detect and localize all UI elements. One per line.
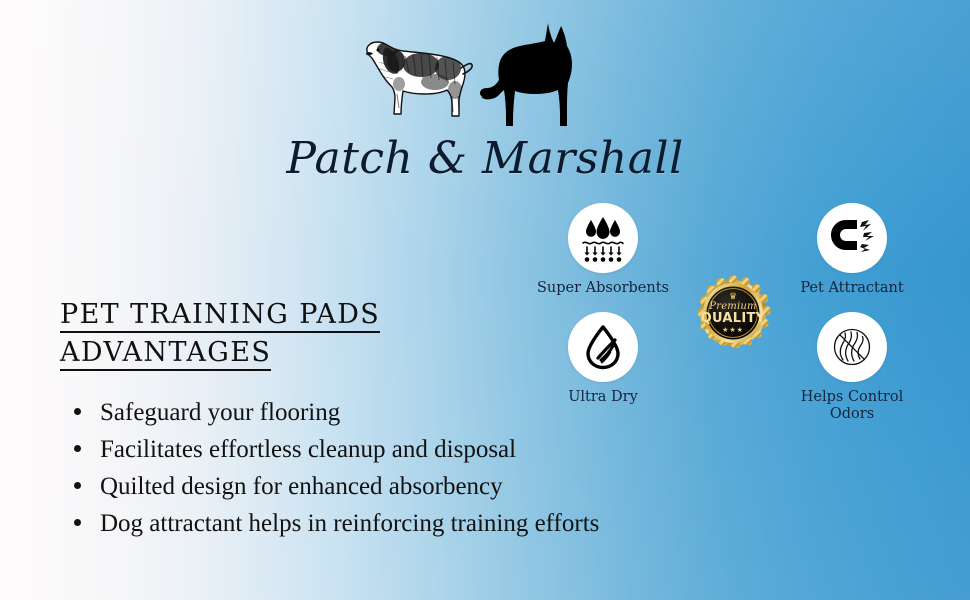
advantages-list: Safeguard your flooring Facilitates effo… bbox=[66, 396, 766, 544]
list-item-label: Safeguard your flooring bbox=[100, 399, 340, 426]
headline-line-1: PET TRAINING PADS bbox=[60, 300, 380, 333]
magnet-icon bbox=[827, 215, 877, 261]
feature-label: Ultra Dry bbox=[528, 389, 678, 406]
headline-line-2: ADVANTAGES bbox=[60, 338, 271, 371]
feature-pet-attractant: Pet Attractant bbox=[777, 203, 927, 297]
feature-icon-circle bbox=[568, 312, 638, 382]
spaniel-dog-illustration bbox=[355, 32, 473, 124]
premium-quality-seal: ♛ Premium QUALITY ★★★ bbox=[694, 274, 772, 352]
brand-logo: Patch & Marshall bbox=[0, 18, 970, 181]
seal-badge-shape bbox=[694, 274, 772, 352]
list-item-label: Quilted design for enhanced absorbency bbox=[100, 473, 503, 500]
bullet-icon bbox=[74, 519, 81, 526]
list-item: Facilitates effortless cleanup and dispo… bbox=[66, 433, 766, 467]
water-droplets-absorbing-icon bbox=[578, 213, 628, 263]
list-item: Dog attractant helps in reinforcing trai… bbox=[66, 507, 766, 541]
feature-icon-circle bbox=[817, 312, 887, 382]
dry-droplet-feather-icon bbox=[580, 324, 626, 370]
bullet-icon bbox=[74, 482, 81, 489]
feature-label: Helps Control Odors bbox=[777, 389, 927, 422]
brand-name: Patch & Marshall bbox=[0, 137, 970, 181]
feature-icon-circle bbox=[817, 203, 887, 273]
list-item: Quilted design for enhanced absorbency bbox=[66, 470, 766, 504]
no-odor-icon bbox=[827, 322, 877, 372]
feature-helps-control-odors: Helps Control Odors bbox=[777, 312, 927, 422]
feature-label: Super Absorbents bbox=[528, 280, 678, 297]
list-item-label: Facilitates effortless cleanup and dispo… bbox=[100, 436, 516, 463]
feature-label: Pet Attractant bbox=[777, 280, 927, 297]
list-item-label: Dog attractant helps in reinforcing trai… bbox=[100, 510, 599, 537]
product-feature-banner: Patch & Marshall PET TRAINING PADS ADVAN… bbox=[0, 0, 970, 600]
dog-illustrations bbox=[355, 18, 615, 133]
feature-ultra-dry: Ultra Dry bbox=[528, 312, 678, 406]
bullet-icon bbox=[74, 445, 81, 452]
feature-super-absorbents: Super Absorbents bbox=[528, 203, 678, 297]
feature-icon-circle bbox=[568, 203, 638, 273]
bullet-icon bbox=[74, 408, 81, 415]
german-shepherd-silhouette bbox=[475, 18, 593, 133]
page-title: PET TRAINING PADS ADVANTAGES bbox=[60, 300, 490, 376]
